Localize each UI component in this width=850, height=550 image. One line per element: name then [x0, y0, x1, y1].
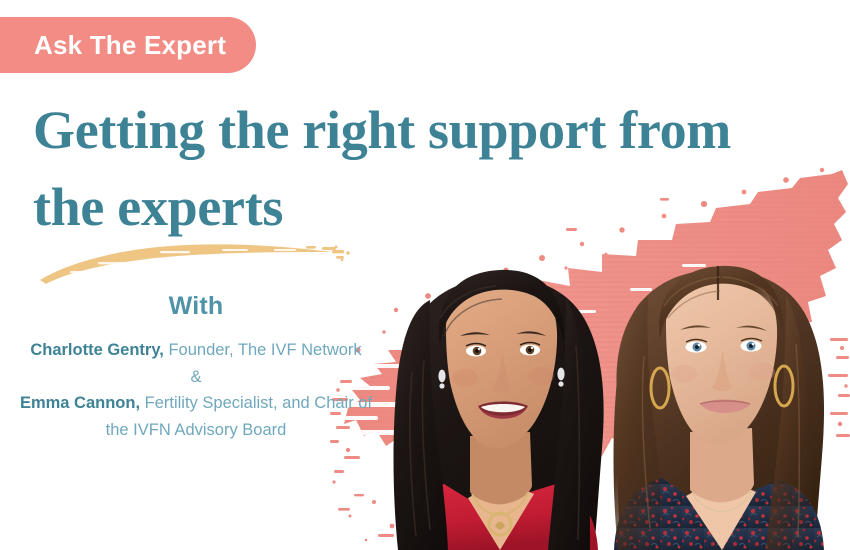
credit-name-charlotte: Charlotte Gentry, [30, 341, 164, 359]
experts-photograph [0, 0, 850, 550]
ask-the-expert-badge: Ask The Expert [0, 17, 256, 73]
with-label: With [16, 292, 376, 321]
credit-separator: & [16, 364, 376, 391]
credit-emma-cannon: Emma Cannon, Fertility Specialist, and C… [16, 390, 376, 443]
credit-role-charlotte: Founder, The IVF Network [164, 341, 362, 359]
credit-name-emma: Emma Cannon, [20, 394, 140, 412]
credits-block: With Charlotte Gentry, Founder, The IVF … [16, 292, 376, 444]
page-title: Getting the right support from the exper… [33, 92, 803, 245]
badge-label: Ask The Expert [34, 32, 226, 58]
credit-role-emma: Fertility Specialist, and Chair of the I… [106, 394, 372, 439]
poster-canvas: Ask The Expert Getting the right support… [0, 0, 850, 550]
credit-charlotte-gentry: Charlotte Gentry, Founder, The IVF Netwo… [16, 337, 376, 364]
